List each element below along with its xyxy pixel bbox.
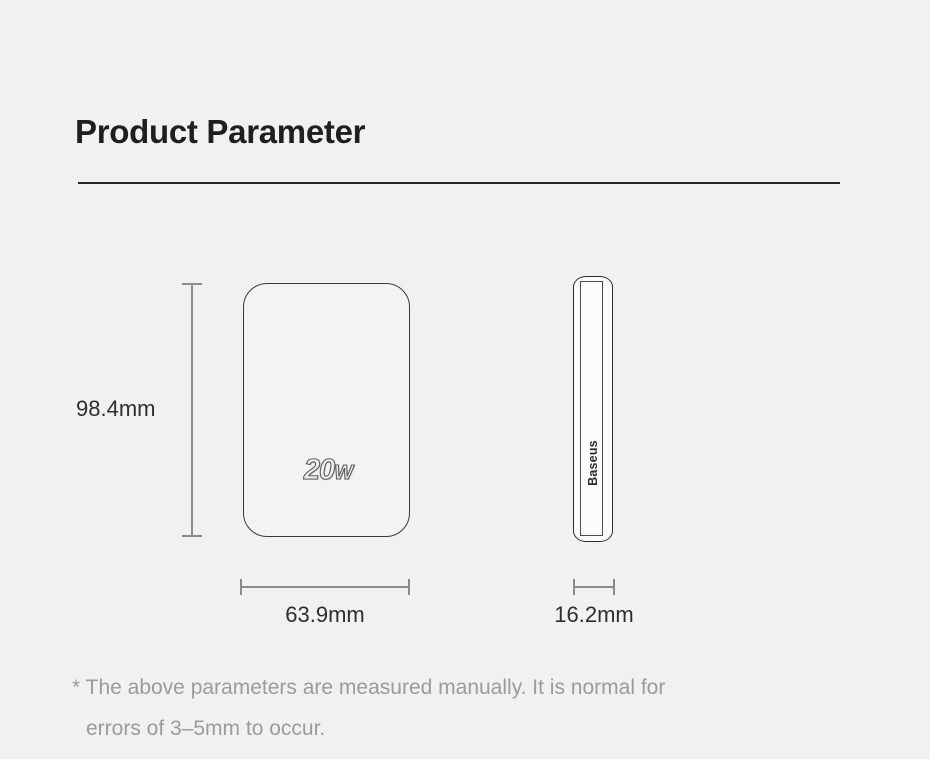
- width-dimension-cap-start: [240, 579, 242, 595]
- width-dimension-line: [240, 586, 410, 588]
- product-dimension-diagram: 20W Baseus 98.4mm 63.9mm 16.2mm: [0, 0, 930, 759]
- product-front-view: 20W: [243, 283, 410, 537]
- height-dimension-label: 98.4mm: [76, 396, 155, 422]
- product-parameter-page: Product Parameter 20W Baseus 98.4mm 63.9…: [0, 0, 930, 759]
- disclaimer-line-1: * The above parameters are measured manu…: [72, 676, 665, 699]
- power-rating-unit: W: [334, 462, 352, 484]
- power-rating-value: 20: [304, 454, 334, 486]
- height-dimension-cap-bottom: [182, 535, 202, 537]
- width-dimension-cap-end: [408, 579, 410, 595]
- disclaimer-line-2: errors of 3–5mm to occur.: [72, 709, 872, 750]
- side-view-left-edge: [580, 282, 581, 536]
- width-dimension-label: 63.9mm: [240, 602, 410, 628]
- depth-dimension-line: [573, 586, 615, 588]
- depth-dimension-cap-start: [573, 579, 575, 595]
- depth-dimension-cap-end: [613, 579, 615, 595]
- brand-label: Baseus: [586, 417, 600, 509]
- side-view-right-edge: [602, 282, 603, 536]
- side-view-top-edge: [580, 281, 603, 282]
- side-view-bottom-edge: [580, 535, 603, 536]
- measurement-disclaimer: * The above parameters are measured manu…: [72, 668, 872, 750]
- depth-dimension-label: 16.2mm: [509, 602, 679, 628]
- power-rating-logo: 20W: [292, 456, 364, 485]
- product-side-view: Baseus: [571, 276, 615, 542]
- height-dimension-cap-top: [182, 283, 202, 285]
- height-dimension-line: [191, 283, 193, 537]
